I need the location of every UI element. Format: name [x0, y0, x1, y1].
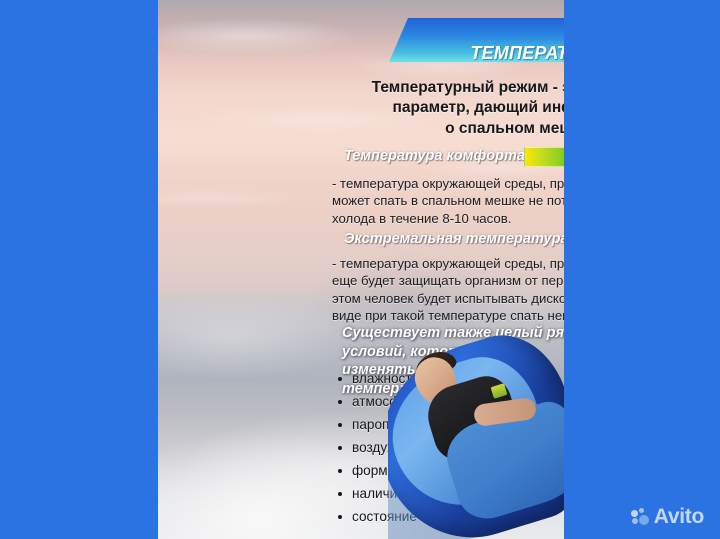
- avito-watermark: Avito: [631, 506, 704, 527]
- banner-line-2: ТЕМПЕРАТУРНЫЙ РЕЖИМ: [389, 44, 564, 62]
- page-background: ВЫБИРАЕМ ТЕМПЕРАТУРНЫЙ РЕЖИМ Температурн…: [0, 0, 720, 539]
- list-item: наличие белья: [336, 487, 564, 501]
- avito-dot-3: [632, 518, 638, 524]
- avito-dot-2: [639, 508, 644, 513]
- intro-line-2: параметр, дающий информацию: [322, 98, 564, 118]
- subheading-line-1: Существует также целый ряд: [342, 324, 564, 343]
- intro-line-1: Температурный режим - это основной: [322, 78, 564, 98]
- list-item: состояние здоровья и др.: [336, 510, 564, 524]
- list-item: атмосферное давление: [336, 395, 564, 409]
- avito-wordmark: Avito: [654, 506, 704, 527]
- list-item: паропроницаемость материала: [336, 418, 564, 432]
- avito-dot-1: [631, 510, 638, 517]
- avito-dot-4: [639, 515, 649, 525]
- conditions-list: влажность воздуха атмосферное давление п…: [336, 372, 564, 533]
- list-item: влажность воздуха: [336, 372, 564, 386]
- banner-line-1: ВЫБИРАЕМ: [389, 24, 564, 40]
- intro-line-3: о спальном мешке.: [322, 119, 564, 139]
- comfort-gradient-bar: [524, 147, 564, 167]
- infographic-panel: ВЫБИРАЕМ ТЕМПЕРАТУРНЫЙ РЕЖИМ Температурн…: [158, 0, 564, 539]
- extreme-temperature-description: - температура окружающей среды, при кото…: [332, 255, 564, 325]
- list-item: форма и положение тела: [336, 464, 564, 478]
- extreme-temperature-label: Экстремальная температура: [344, 231, 564, 247]
- list-item: воздухообмен: [336, 441, 564, 455]
- intro-title: Температурный режим - это основной парам…: [322, 78, 564, 139]
- avito-dots-icon: [631, 508, 649, 526]
- comfort-temperature-description: - температура окружающей среды, при кото…: [332, 175, 564, 227]
- header-banner: ВЫБИРАЕМ ТЕМПЕРАТУРНЫЙ РЕЖИМ: [389, 18, 564, 62]
- comfort-temperature-label: Температура комфорта: [344, 148, 525, 164]
